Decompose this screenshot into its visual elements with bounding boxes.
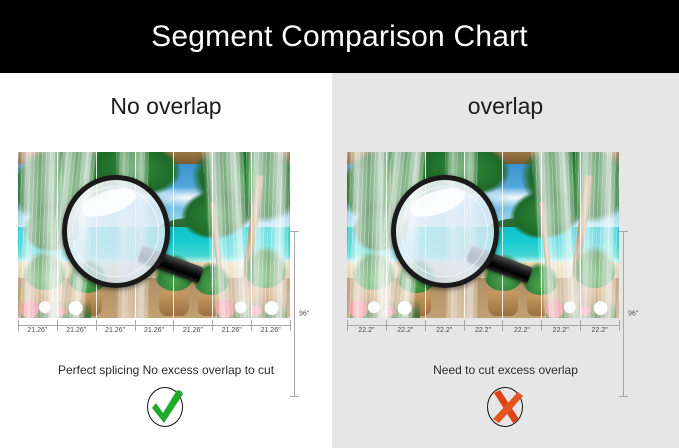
segment-measure-label: 22.2" bbox=[502, 327, 541, 334]
segment-measure-label: 21.26" bbox=[96, 327, 135, 334]
segment-measure-label: 22.2" bbox=[386, 327, 425, 334]
caption-no-overlap: Perfect splicing No excess overlap to cu… bbox=[0, 363, 332, 377]
segment-dimensions-left: 21.26"21.26"21.26"21.26"21.26"21.26"21.2… bbox=[18, 320, 290, 342]
potted-plant bbox=[488, 291, 518, 316]
page-title: Segment Comparison Chart bbox=[151, 20, 528, 54]
segment-measure-label: 21.26" bbox=[135, 327, 174, 334]
segment-measure-label: 21.26" bbox=[57, 327, 96, 334]
sheer-curtain bbox=[246, 152, 290, 318]
dimension-tick bbox=[290, 320, 291, 331]
segment-measure-label: 22.2" bbox=[347, 327, 386, 334]
mural-image-no-overlap bbox=[18, 152, 290, 318]
segment-labels-right: 22.2"22.2"22.2"22.2"22.2"22.2"22.2" bbox=[347, 327, 619, 334]
segment-measure-label: 22.2" bbox=[580, 327, 619, 334]
segment-measure-label: 21.26" bbox=[251, 327, 290, 334]
panel-heading-no-overlap: No overlap bbox=[0, 93, 332, 120]
potted-plant bbox=[159, 291, 189, 316]
title-bar: Segment Comparison Chart bbox=[0, 0, 679, 73]
panel-heading-overlap: overlap bbox=[332, 93, 679, 120]
verdict-no-overlap bbox=[0, 385, 332, 431]
panel-overlap: overlap bbox=[332, 73, 679, 448]
segment-measure-label: 21.26" bbox=[18, 327, 57, 334]
magnifying-glass-icon bbox=[391, 175, 500, 288]
caption-overlap: Need to cut excess overlap bbox=[332, 363, 679, 377]
check-mark-glyph bbox=[143, 385, 189, 431]
cross-mark-glyph bbox=[483, 385, 529, 431]
height-label-left: 96" bbox=[299, 311, 309, 318]
mural-image-overlap bbox=[347, 152, 619, 318]
segment-labels-left: 21.26"21.26"21.26"21.26"21.26"21.26"21.2… bbox=[18, 327, 290, 334]
check-mark-icon bbox=[143, 385, 189, 431]
mural-figure-overlap: 96" 22.2"22.2"22.2"22.2"22.2"22.2"22.2" bbox=[347, 152, 619, 318]
panel-no-overlap: No overlap bbox=[0, 73, 332, 448]
sheer-curtain bbox=[575, 152, 619, 318]
segment-measure-label: 22.2" bbox=[541, 327, 580, 334]
segment-measure-label: 22.2" bbox=[464, 327, 503, 334]
magnifier-lens bbox=[62, 175, 171, 288]
segment-measure-label: 21.26" bbox=[173, 327, 212, 334]
verdict-overlap bbox=[332, 385, 679, 431]
height-label-right: 96" bbox=[628, 311, 638, 318]
segment-measure-label: 22.2" bbox=[425, 327, 464, 334]
cross-mark-icon bbox=[483, 385, 529, 431]
segment-dimensions-right: 22.2"22.2"22.2"22.2"22.2"22.2"22.2" bbox=[347, 320, 619, 342]
dimension-tick bbox=[619, 320, 620, 331]
segment-measure-label: 21.26" bbox=[212, 327, 251, 334]
comparison-panels: No overlap bbox=[0, 73, 679, 448]
segment-comparison-chart-page: Segment Comparison Chart No overlap bbox=[0, 0, 679, 448]
mural-figure-no-overlap: 96" 21.26"21.26"21.26"21.26"21.26"21.26"… bbox=[18, 152, 290, 318]
magnifier-lens bbox=[391, 175, 500, 288]
magnifying-glass-icon bbox=[62, 175, 171, 288]
